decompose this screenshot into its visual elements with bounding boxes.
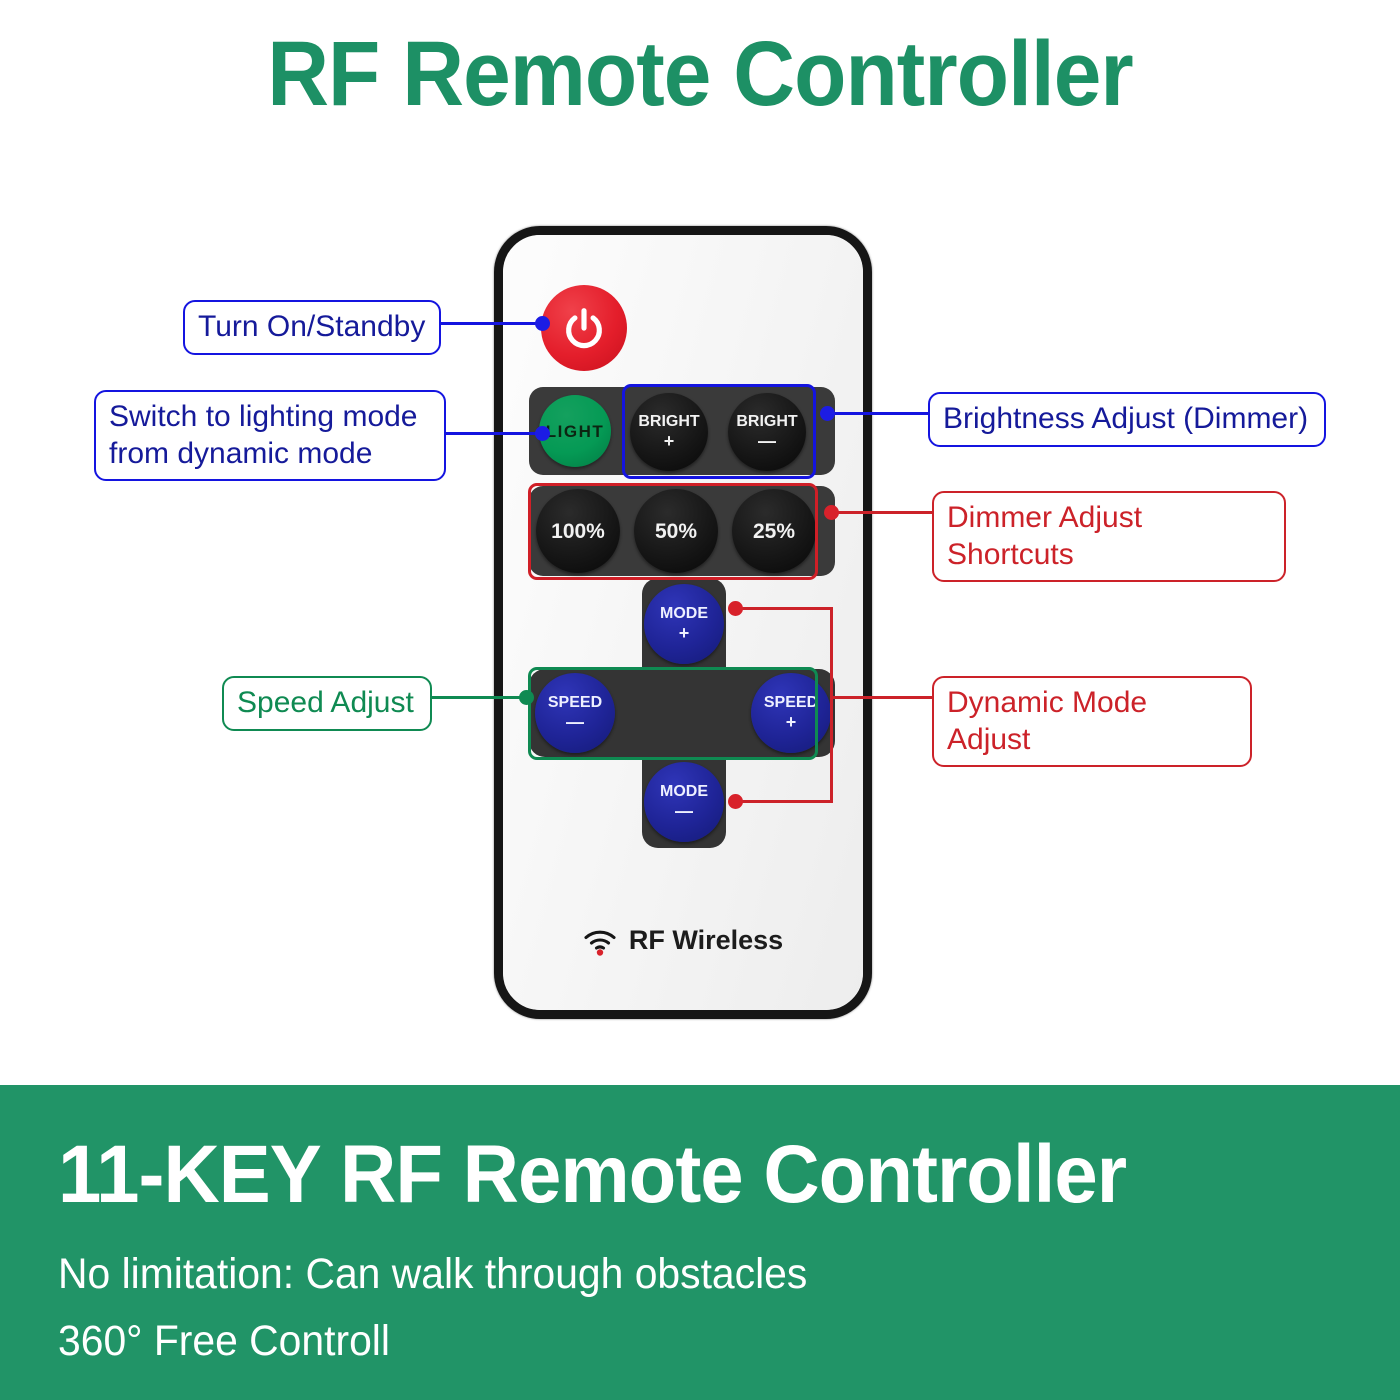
callout-brightness: Brightness Adjust (Dimmer) (928, 392, 1326, 447)
light-button-label: LIGHT (546, 423, 605, 440)
connector-light (446, 432, 542, 435)
connector-dynamic-top (735, 607, 831, 610)
mode-down-sign: — (675, 802, 693, 820)
remote-device: LIGHT BRIGHT + BRIGHT — 100% 50% 25% MOD… (494, 226, 872, 1019)
rf-wireless-icon (583, 926, 617, 956)
callout-dimmer: Dimmer Adjust Shortcuts (932, 491, 1286, 582)
rf-wireless-brand: RF Wireless (503, 925, 863, 956)
connector-speed (432, 696, 526, 699)
callout-power: Turn On/Standby (183, 300, 441, 355)
mode-up-button[interactable]: MODE + (644, 584, 724, 664)
power-button[interactable] (541, 285, 627, 371)
banner-title: 11-KEY RF Remote Controller (58, 1128, 1126, 1222)
anchor-dot-light (535, 426, 550, 441)
connector-brightness (826, 412, 930, 415)
highlight-speed (528, 667, 818, 760)
connector-dimmer (830, 511, 934, 514)
callout-light: Switch to lighting mode from dynamic mod… (94, 390, 446, 481)
connector-dynamic-bracket (830, 607, 833, 803)
mode-up-label: MODE (660, 606, 708, 622)
highlight-dimmer-shortcuts (528, 483, 818, 580)
mode-down-label: MODE (660, 784, 708, 800)
remote-faceplate: LIGHT BRIGHT + BRIGHT — 100% 50% 25% MOD… (503, 235, 863, 1010)
anchor-dot-brightness (820, 406, 835, 421)
connector-power (441, 322, 542, 325)
anchor-dot-mode-up (728, 601, 743, 616)
anchor-dot-power (535, 316, 550, 331)
callout-speed: Speed Adjust (222, 676, 432, 731)
page-title: RF Remote Controller (49, 22, 1351, 127)
callout-dynamic: Dynamic Mode Adjust (932, 676, 1252, 767)
anchor-dot-mode-down (728, 794, 743, 809)
mode-down-button[interactable]: MODE — (644, 762, 724, 842)
connector-dynamic-stem (830, 696, 934, 699)
mode-up-sign: + (679, 624, 690, 642)
power-icon (561, 305, 607, 351)
connector-dynamic-bottom (735, 800, 831, 803)
bottom-banner: 11-KEY RF Remote Controller No limitatio… (0, 1085, 1400, 1400)
anchor-dot-dimmer (824, 505, 839, 520)
highlight-brightness (622, 384, 816, 479)
banner-subtitle-2: 360° Free Controll (58, 1317, 390, 1366)
banner-subtitle-1: No limitation: Can walk through obstacle… (58, 1250, 807, 1299)
rf-wireless-label: RF Wireless (629, 925, 783, 956)
anchor-dot-speed (519, 690, 534, 705)
